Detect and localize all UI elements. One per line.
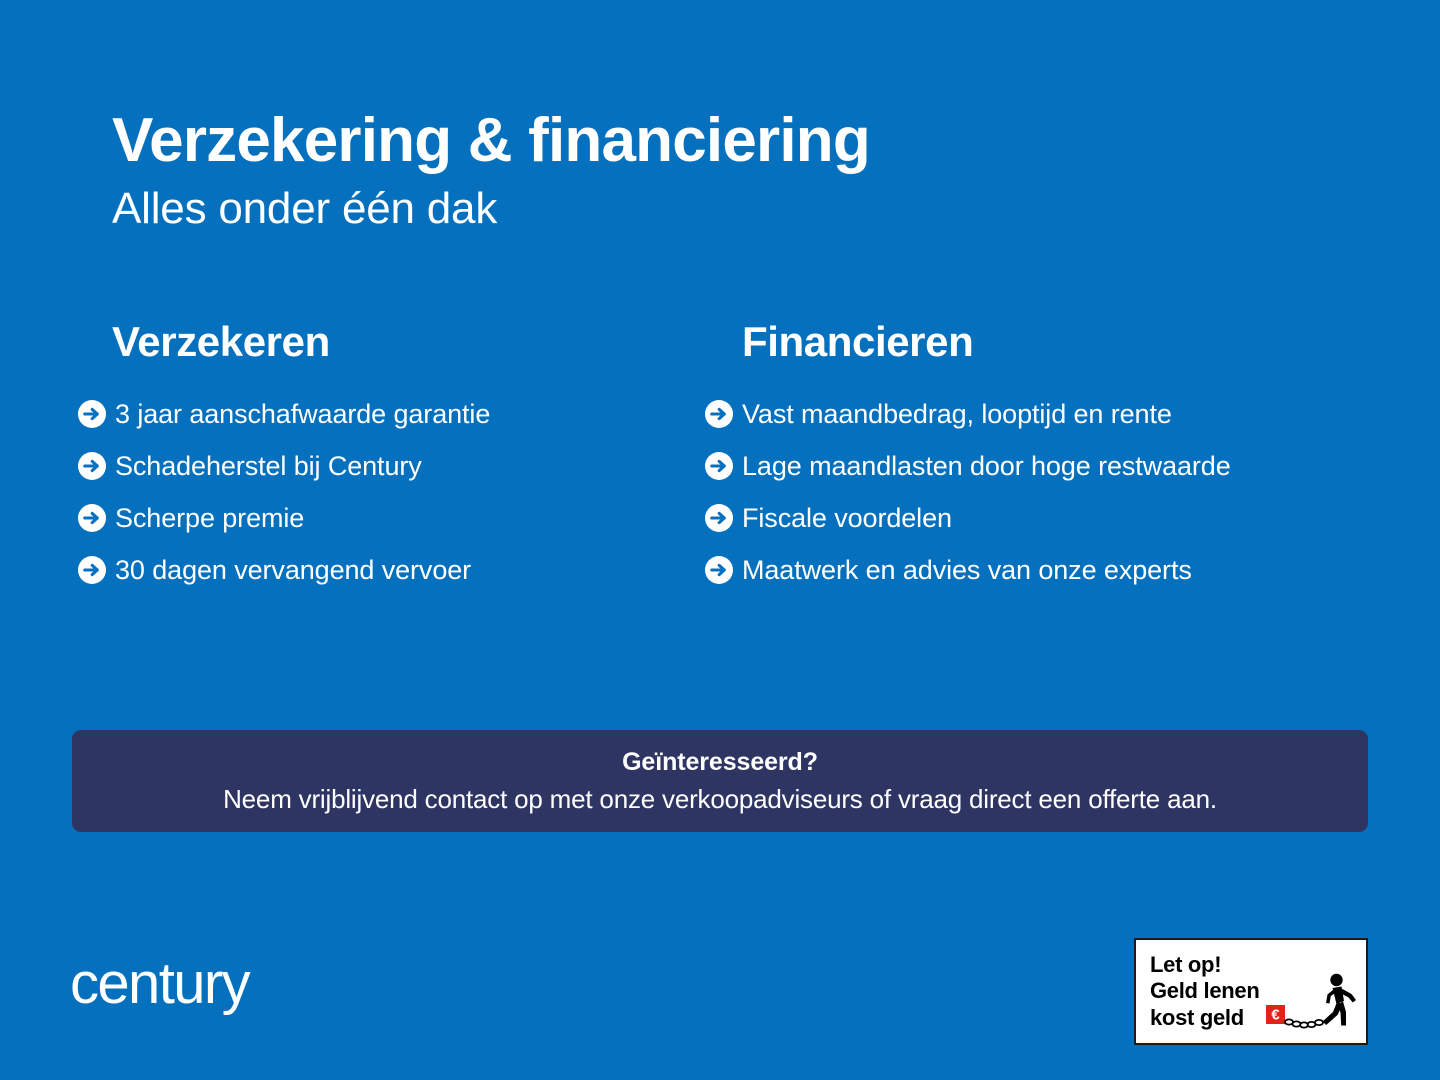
arrow-right-circle-icon [705,452,733,480]
list-item: Fiscale voordelen [705,492,1405,544]
page-title: Verzekering & financiering [112,108,1312,175]
arrow-right-circle-icon [78,400,106,428]
list-item: 3 jaar aanschafwaarde garantie [78,388,698,440]
list-item-label: Vast maandbedrag, looptijd en rente [742,401,1172,428]
list-item-label: Lage maandlasten door hoge restwaarde [742,453,1231,480]
list-item-label: Schadeherstel bij Century [115,453,422,480]
arrow-right-circle-icon [78,556,106,584]
slide: Verzekering & financiering Alles onder é… [0,0,1440,1080]
list-item: 30 dagen vervangend vervoer [78,544,698,596]
cta-banner: Geïnteresseerd? Neem vrijblijvend contac… [72,730,1368,832]
list-item-label: 30 dagen vervangend vervoer [115,557,471,584]
credit-warning-line-1: Let op! [1150,952,1259,979]
credit-warning-line-2: Geld lenen [1150,978,1259,1005]
page-subtitle: Alles onder één dak [112,183,1312,235]
column-heading-verzekeren: Verzekeren [78,318,698,366]
benefit-list-financieren: Vast maandbedrag, looptijd en rente Lage… [705,388,1405,596]
list-item: Maatwerk en advies van onze experts [705,544,1405,596]
arrow-right-circle-icon [705,400,733,428]
column-financieren: Financieren Vast maandbedrag, looptijd e… [705,318,1405,596]
arrow-right-circle-icon [705,556,733,584]
benefit-list-verzekeren: 3 jaar aanschafwaarde garantie Schadeher… [78,388,698,596]
list-item: Schadeherstel bij Century [78,440,698,492]
cta-title: Geïnteresseerd? [622,748,818,777]
arrow-right-circle-icon [78,452,106,480]
list-item-label: Scherpe premie [115,505,304,532]
century-logo: century [70,955,249,1013]
list-item-label: Maatwerk en advies van onze experts [742,557,1192,584]
walking-person-with-ball-and-chain-icon: € [1264,971,1360,1037]
svg-text:€: € [1271,1006,1280,1023]
credit-warning-text: Let op! Geld lenen kost geld [1150,952,1259,1032]
arrow-right-circle-icon [705,504,733,532]
column-verzekeren: Verzekeren 3 jaar aanschafwaarde garanti… [78,318,698,596]
credit-warning-box: Let op! Geld lenen kost geld € [1134,938,1368,1045]
list-item-label: 3 jaar aanschafwaarde garantie [115,401,490,428]
credit-warning-line-3: kost geld [1150,1005,1244,1032]
column-heading-financieren: Financieren [705,318,1405,366]
list-item: Scherpe premie [78,492,698,544]
slide-header: Verzekering & financiering Alles onder é… [112,108,1312,235]
list-item: Lage maandlasten door hoge restwaarde [705,440,1405,492]
arrow-right-circle-icon [78,504,106,532]
list-item: Vast maandbedrag, looptijd en rente [705,388,1405,440]
cta-text: Neem vrijblijvend contact op met onze ve… [223,784,1217,815]
list-item-label: Fiscale voordelen [742,505,952,532]
